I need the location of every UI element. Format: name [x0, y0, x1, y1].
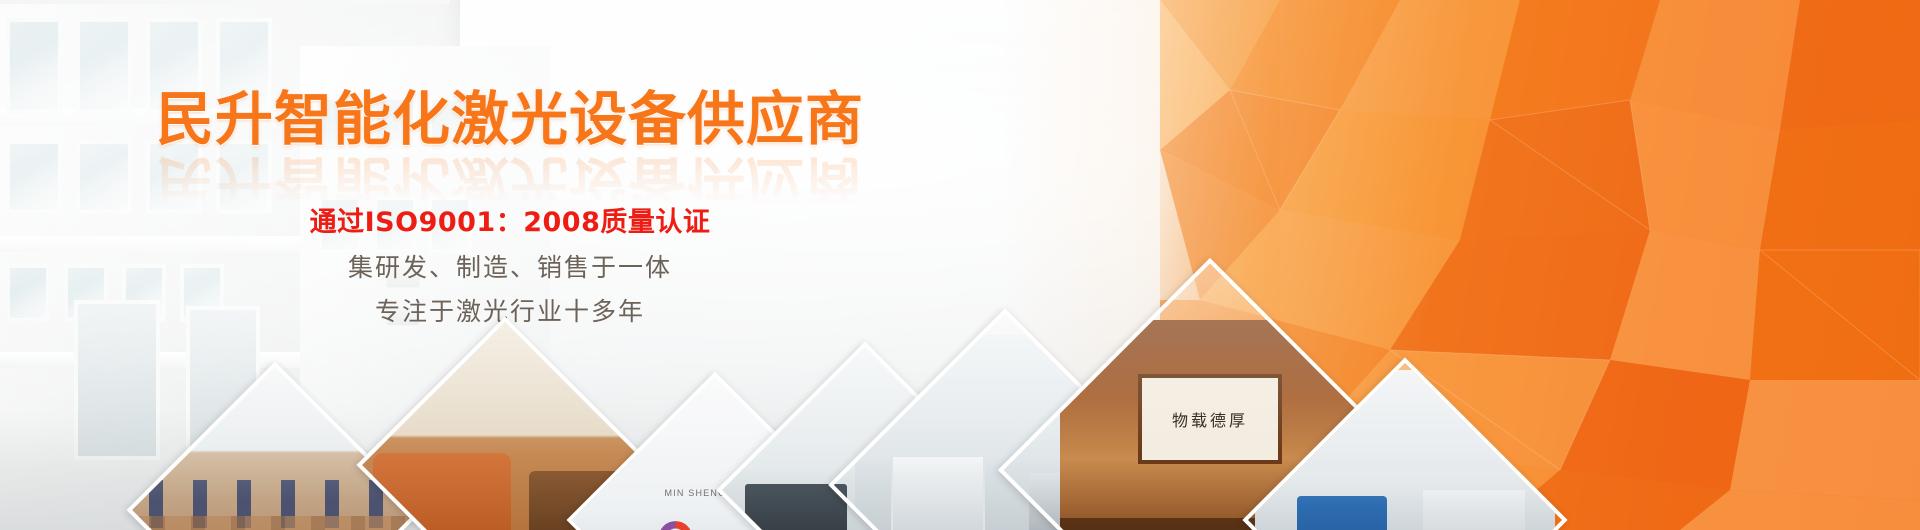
- page-title: 民升智能化激光设备供应商: [0, 88, 1020, 150]
- headline-group: 民升智能化激光设备供应商 民升智能化激光设备供应商: [0, 88, 1020, 214]
- photo-tile-strip: MIN SHENG LASER 民升激光 物载德厚: [0, 230, 1920, 530]
- promotional-banner: 民升智能化激光设备供应商 民升智能化激光设备供应商 通过ISO9001：2008…: [0, 0, 1920, 530]
